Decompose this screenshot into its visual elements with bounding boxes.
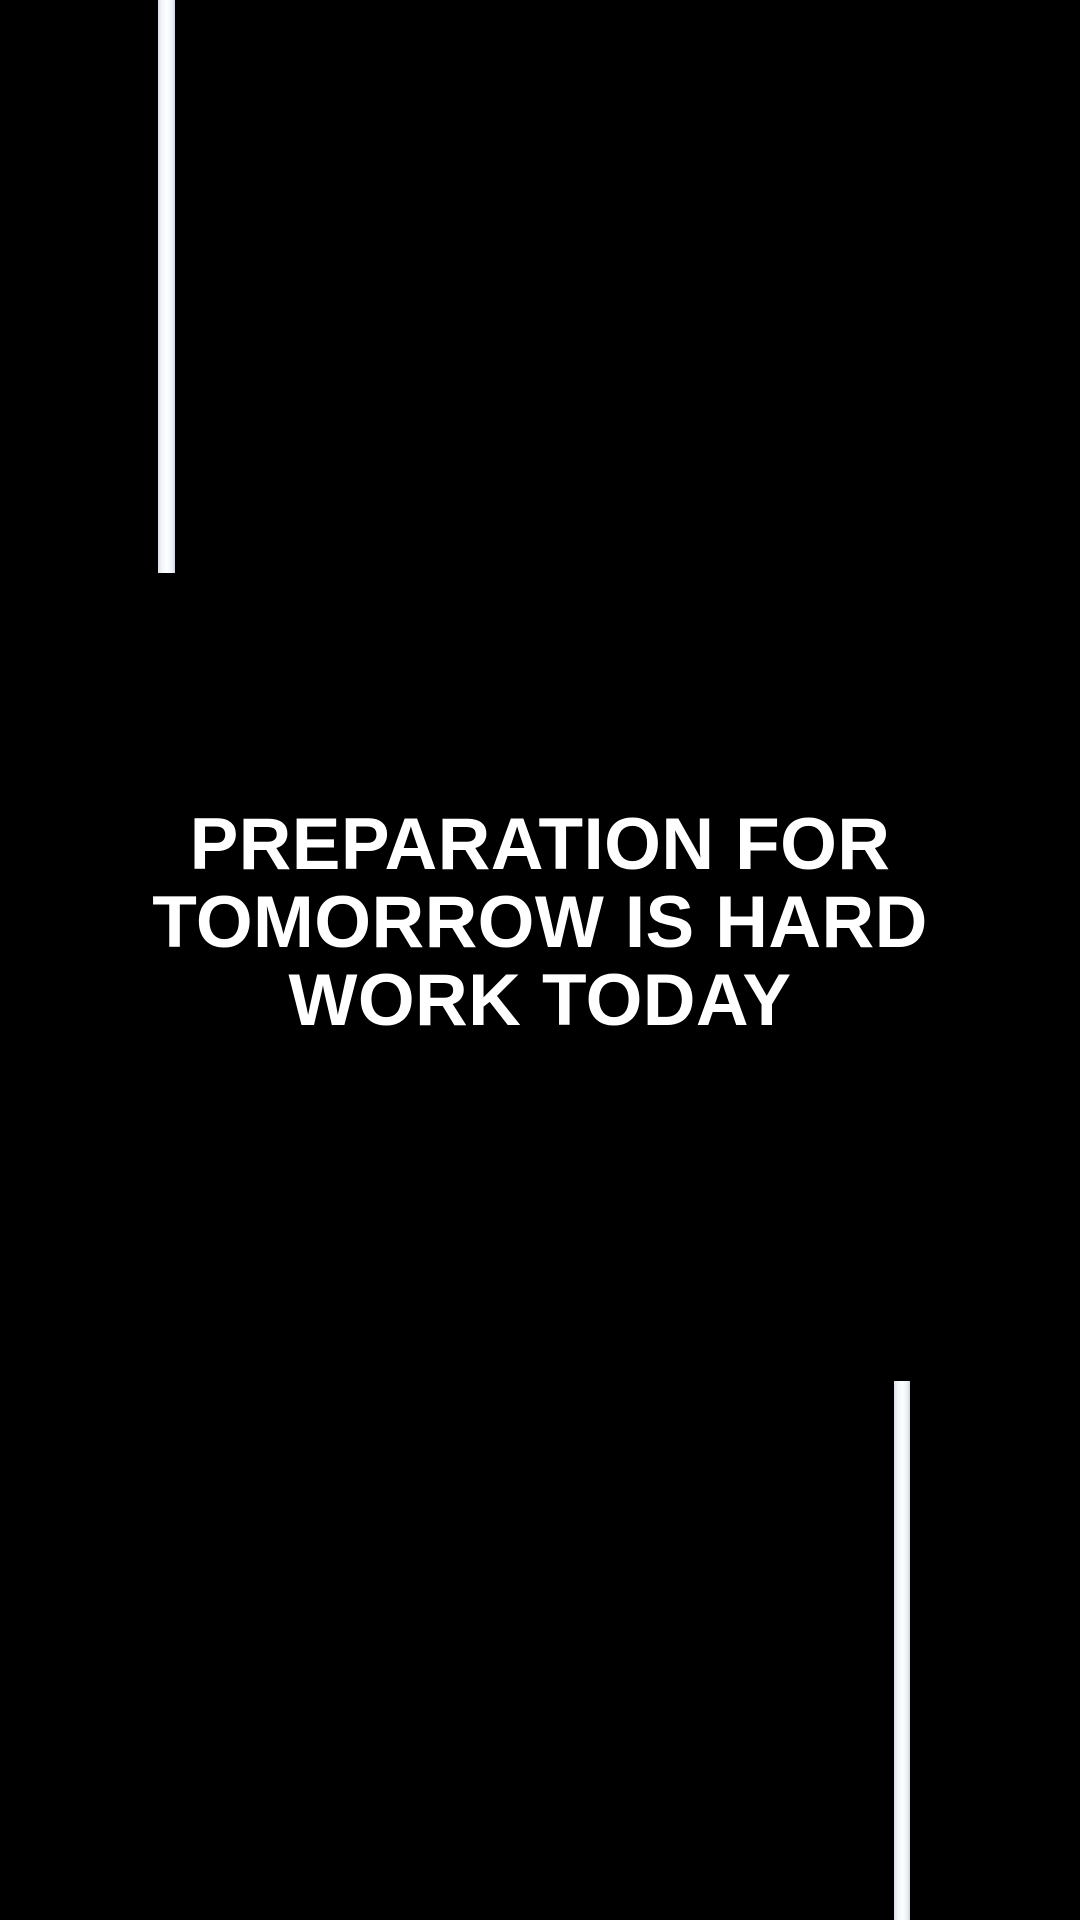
quote-line-3: WORK TODAY	[110, 962, 970, 1040]
accent-bar-top-left	[158, 0, 175, 573]
accent-bar-bottom-right	[894, 1381, 910, 1920]
quote-line-1: PREPARATION FOR	[110, 806, 970, 884]
quote-text-block: PREPARATION FOR TOMORROW IS HARD WORK TO…	[0, 806, 1080, 1040]
quote-card-canvas: PREPARATION FOR TOMORROW IS HARD WORK TO…	[0, 0, 1080, 1920]
quote-line-2: TOMORROW IS HARD	[110, 884, 970, 962]
